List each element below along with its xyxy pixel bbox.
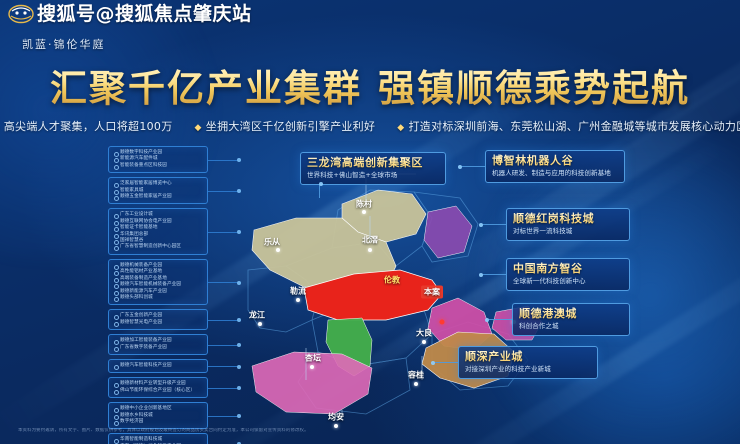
leader-line bbox=[207, 160, 241, 161]
park-group-7[interactable]: 顺德汽车智能科技产业园 bbox=[108, 359, 208, 373]
map-label-project-site: 本案 bbox=[421, 286, 443, 299]
park-group-4[interactable]: 顺德机械装备产业园高性能铝材产业基地高端装备制造产业基地顺德汽车智能机械装备产业… bbox=[108, 259, 208, 305]
diamond-icon: ◆ bbox=[397, 123, 404, 133]
map-label-beijiao: 北滘 bbox=[362, 235, 378, 246]
map-label-lecong: 乐从 bbox=[264, 237, 280, 248]
leader-line bbox=[207, 388, 241, 389]
callout-title: 顺德红岗科技城 bbox=[513, 212, 623, 226]
callout-title: 博智林机器人谷 bbox=[492, 154, 618, 168]
title-part-2: 强镇顺德乘势起航 bbox=[378, 66, 690, 110]
callout-card-1[interactable]: 三龙湾高端创新集聚区世界科技+佛山智造+全球市场 bbox=[300, 152, 446, 185]
selling-point-2-text: 坐拥大湾区千亿创新引擎产业利好 bbox=[206, 120, 376, 133]
map-label-chencun: 陈村 bbox=[356, 199, 372, 210]
callout-subtitle: 对标世界一流科技城 bbox=[513, 227, 623, 236]
callout-title: 中国南方智谷 bbox=[513, 262, 623, 276]
leader-line bbox=[319, 184, 320, 198]
leader-line bbox=[431, 362, 459, 363]
leader-line bbox=[485, 319, 513, 320]
title-part-1: 汇聚千亿产业集群 bbox=[50, 66, 362, 110]
park-list-item: 顺德汽车智能科技产业园 bbox=[114, 363, 203, 369]
selling-points: ◆高尖端人才聚集，人口将超100万 ◆坐拥大湾区千亿创新引擎产业利好 ◆打造对标… bbox=[0, 118, 740, 134]
leader-line bbox=[479, 224, 507, 225]
map-label-leliu: 勒流 bbox=[290, 286, 306, 297]
park-group-3[interactable]: 广东工业设计城顺德互联网协会电产业园智能证卡智能基地华讯集团总部国祥智慧谷广东省… bbox=[108, 208, 208, 254]
park-list-item: 广东省智慧制造创新中心园区 bbox=[114, 244, 203, 250]
leader-line bbox=[207, 366, 241, 367]
park-group-10[interactable]: 华南智能制造科技城广东（顺德）绿色智能产业园 bbox=[108, 433, 208, 444]
park-group-9[interactable]: 顺德中小企业创新基地区顺德水乡科技城数字经济园 bbox=[108, 402, 208, 429]
callout-card-3[interactable]: 顺德红岗科技城对标世界一流科技城 bbox=[506, 208, 630, 241]
park-list-item: 广东省数字装备产业园 bbox=[114, 345, 203, 351]
callout-title: 顺深产业城 bbox=[465, 350, 591, 364]
leader-line bbox=[207, 191, 241, 192]
callout-subtitle: 全球新一代科技创新中心 bbox=[513, 277, 623, 286]
callout-subtitle: 对接深圳产业的科技产业新城 bbox=[465, 365, 591, 374]
park-group-1[interactable]: 顺德数字科技产业园新能源汽车配件城智能装备重点区科技园 bbox=[108, 146, 208, 173]
map-marker bbox=[296, 298, 300, 302]
selling-point-2: ◆坐拥大湾区千亿创新引擎产业利好 bbox=[195, 118, 376, 134]
map-marker bbox=[362, 210, 366, 214]
diamond-icon: ◆ bbox=[195, 123, 202, 133]
park-group-2[interactable]: 泛家居智能家居博览中心智能家具城顺德五金智能家居产业园 bbox=[108, 177, 208, 204]
callout-card-5[interactable]: 顺德港澳城科创合作之城 bbox=[512, 303, 630, 336]
leader-line bbox=[207, 345, 241, 346]
map-marker bbox=[258, 322, 262, 326]
callout-card-4[interactable]: 中国南方智谷全球新一代科技创新中心 bbox=[506, 258, 630, 291]
callout-card-2[interactable]: 博智林机器人谷机器人研发、制造与应用的科技创新基地 bbox=[485, 150, 625, 183]
brand-header: 搜狐号@搜狐焦点肇庆站 凯蓝·锦伦华庭 bbox=[0, 0, 740, 54]
map-label-daliang: 大良 bbox=[416, 328, 432, 339]
park-group-6[interactable]: 顺德加工智能装备产业园广东省数字装备产业园 bbox=[108, 334, 208, 355]
leader-line bbox=[207, 282, 241, 283]
park-list-item: 佛山节能环保综合产业园（核心区） bbox=[114, 388, 203, 394]
map-marker bbox=[276, 248, 280, 252]
map-label-junan: 均安 bbox=[328, 412, 344, 423]
map-marker bbox=[422, 340, 426, 344]
map-marker-project bbox=[440, 320, 445, 325]
callout-subtitle: 世界科技+佛山智造+全球市场 bbox=[307, 171, 439, 180]
park-list-item: 智能装备重点区科技园 bbox=[114, 163, 203, 169]
park-list-item: 数字经济园 bbox=[114, 419, 203, 425]
selling-point-3: ◆打造对标深圳前海、东莞松山湖、广州金融城等城市发展核心动力区 bbox=[397, 118, 740, 134]
brand-name: 搜狐号@搜狐焦点肇庆站 bbox=[37, 2, 252, 26]
legal-disclaimer: 本资料为要约邀请，所有文字、图片、数据仅供参考，具体以政府规划及最终签订的商品房… bbox=[18, 428, 722, 434]
selling-point-1-text: 高尖端人才聚集，人口将超100万 bbox=[4, 120, 173, 133]
callout-subtitle: 科创合作之城 bbox=[519, 322, 623, 331]
selling-point-3-text: 打造对标深圳前海、东莞松山湖、广州金融城等城市发展核心动力区 bbox=[409, 120, 740, 133]
callout-title: 顺德港澳城 bbox=[519, 307, 623, 321]
map-label-lunjiao: 伦教 bbox=[384, 275, 400, 286]
region-purple bbox=[424, 206, 472, 258]
map-marker bbox=[414, 382, 418, 386]
map-marker bbox=[368, 248, 372, 252]
sohu-fox-logo-icon bbox=[8, 3, 34, 25]
leader-line bbox=[458, 166, 486, 167]
page-title: 汇聚千亿产业集群强镇顺德乘势起航 bbox=[0, 58, 740, 112]
park-list-item: 顺德头部科创城 bbox=[114, 295, 203, 301]
leader-line bbox=[207, 416, 241, 417]
shunde-district-map: 陈村 乐从 北滘 勒流 龙江 伦教 大良 杏坛 容桂 均安 本案 bbox=[246, 170, 546, 420]
callout-subtitle: 机器人研发、制造与应用的科技创新基地 bbox=[492, 169, 618, 178]
map-label-longjiang: 龙江 bbox=[249, 310, 265, 321]
park-group-8[interactable]: 顺德新材料产业转型升级产业园佛山节能环保综合产业园（核心区） bbox=[108, 377, 208, 398]
park-group-5[interactable]: 广东五金创新产业园顺德智慧光电产业园 bbox=[108, 309, 208, 330]
park-list-item: 顺德五金智能家居产业园 bbox=[114, 194, 203, 200]
leader-line bbox=[207, 320, 241, 321]
park-list-item: 顺德智慧光电产业园 bbox=[114, 320, 203, 326]
selling-point-1: ◆高尖端人才聚集，人口将超100万 bbox=[0, 118, 173, 134]
map-label-xingtan: 杏坛 bbox=[305, 353, 321, 364]
leader-line bbox=[479, 274, 507, 275]
brand-lockup[interactable]: 搜狐号@搜狐焦点肇庆站 bbox=[8, 2, 252, 26]
leader-line bbox=[207, 232, 241, 233]
callout-title: 三龙湾高端创新集聚区 bbox=[307, 156, 439, 170]
map-marker bbox=[310, 365, 314, 369]
poster-canvas: 搜狐号@搜狐焦点肇庆站 凯蓝·锦伦华庭 汇聚千亿产业集群强镇顺德乘势起航 ◆高尖… bbox=[0, 0, 740, 444]
industrial-park-list: 顺德数字科技产业园新能源汽车配件城智能装备重点区科技园泛家居智能家居博览中心智能… bbox=[108, 146, 208, 444]
map-label-ronggui: 容桂 bbox=[408, 370, 424, 381]
project-name: 凯蓝·锦伦华庭 bbox=[22, 36, 106, 52]
callout-card-6[interactable]: 顺深产业城对接深圳产业的科技产业新城 bbox=[458, 346, 598, 379]
